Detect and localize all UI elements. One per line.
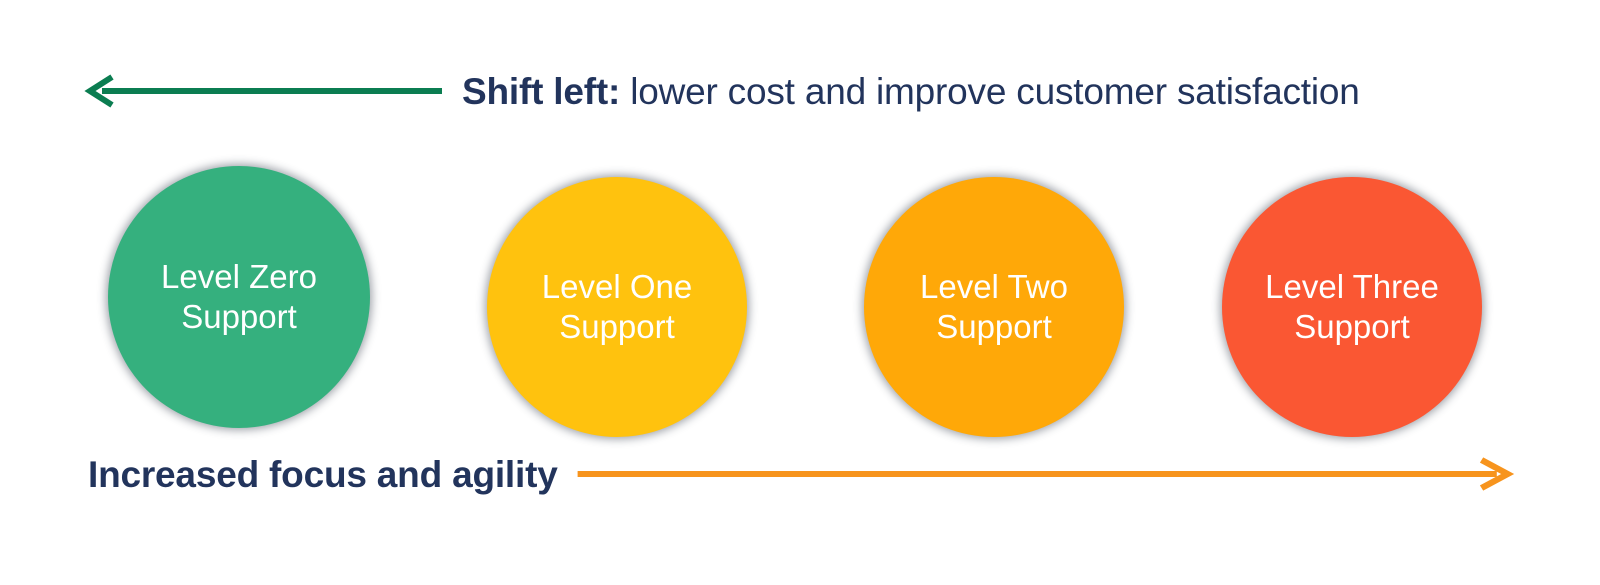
support-level-label-line2: Support bbox=[1294, 307, 1410, 347]
support-level-circle-zero[interactable]: Level Zero Support bbox=[108, 166, 370, 428]
shift-left-arrow bbox=[82, 71, 442, 111]
shift-left-caption-bold: Shift left: bbox=[462, 71, 620, 112]
increased-focus-arrow bbox=[558, 454, 1516, 494]
shift-left-arrow-svg bbox=[82, 71, 442, 111]
support-level-label-line1: Level Three bbox=[1265, 267, 1439, 307]
increased-focus-annotation-row: Increased focus and agility bbox=[0, 446, 1600, 502]
increased-focus-caption: Increased focus and agility bbox=[88, 456, 558, 493]
shift-left-annotation-row: Shift left: lower cost and improve custo… bbox=[0, 62, 1600, 120]
support-level-circle-two[interactable]: Level Two Support bbox=[864, 177, 1124, 437]
support-level-label-line2: Support bbox=[181, 297, 297, 337]
support-level-label-line1: Level Two bbox=[920, 267, 1068, 307]
shift-left-caption-rest: lower cost and improve customer satisfac… bbox=[620, 71, 1360, 112]
diagram-canvas: Shift left: lower cost and improve custo… bbox=[0, 0, 1600, 585]
support-level-label-line2: Support bbox=[559, 307, 675, 347]
support-level-circle-three[interactable]: Level Three Support bbox=[1222, 177, 1482, 437]
support-level-label-line1: Level One bbox=[542, 267, 692, 307]
shift-left-caption: Shift left: lower cost and improve custo… bbox=[462, 73, 1360, 110]
increased-focus-arrow-svg bbox=[558, 454, 1516, 494]
support-levels-group: Level Zero Support Level One Support Lev… bbox=[0, 155, 1600, 425]
support-level-label-line1: Level Zero bbox=[161, 257, 317, 297]
support-level-circle-one[interactable]: Level One Support bbox=[487, 177, 747, 437]
support-level-label-line2: Support bbox=[936, 307, 1052, 347]
